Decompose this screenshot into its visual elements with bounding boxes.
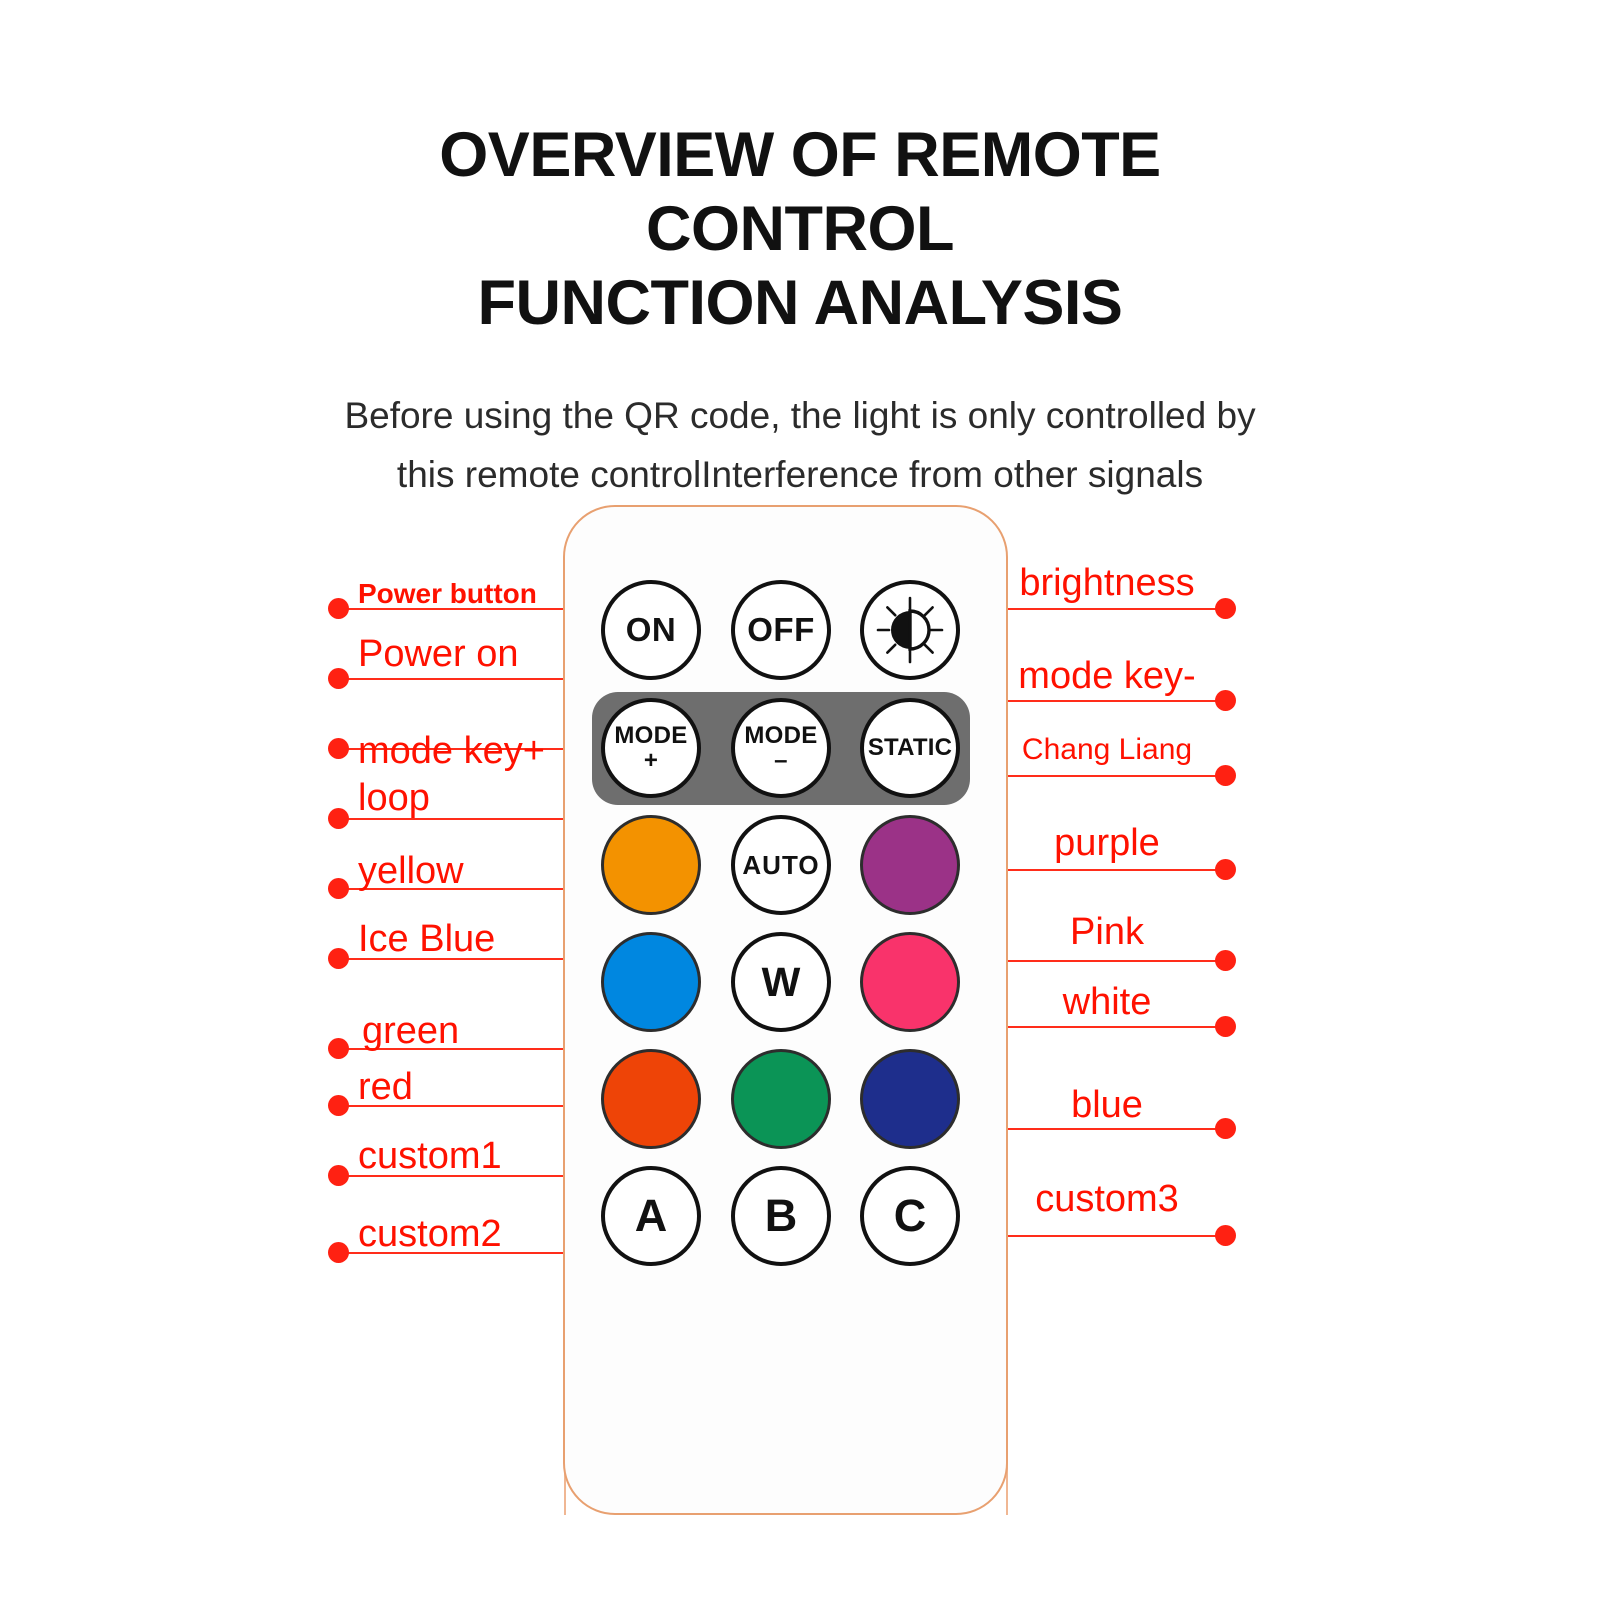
button-color-blue[interactable] [860, 1049, 960, 1149]
page-title: OVERVIEW OF REMOTE CONTROL FUNCTION ANAL… [290, 118, 1310, 340]
callout-dot-green [328, 1038, 349, 1059]
button-static[interactable]: STATIC [860, 698, 960, 798]
callout-dot-pink [1215, 950, 1236, 971]
button-color-pink[interactable] [860, 932, 960, 1032]
button-auto[interactable]: AUTO [731, 815, 831, 915]
callout-label-ice-blue: Ice Blue [358, 918, 495, 961]
button-auto-label: AUTO [742, 850, 819, 881]
button-white-label: W [762, 959, 801, 1006]
button-off-label: OFF [747, 611, 814, 649]
button-custom-a[interactable]: A [601, 1166, 701, 1266]
callout-label-power-on: Power on [358, 633, 519, 676]
page-subtitle-line-2: this remote controlInterference from oth… [320, 445, 1280, 504]
button-custom-c[interactable]: C [860, 1166, 960, 1266]
callout-label-mode-key-plus: mode key+ [358, 730, 545, 773]
button-custom-c-label: C [894, 1190, 927, 1242]
button-mode-minus-sign: – [774, 748, 788, 773]
callout-dot-power-on [328, 668, 349, 689]
callout-label-green: green [362, 1010, 459, 1053]
callout-dot-red [328, 1095, 349, 1116]
button-off[interactable]: OFF [731, 580, 831, 680]
page-title-line-2: FUNCTION ANALYSIS [290, 266, 1310, 340]
callout-label-custom2: custom2 [358, 1213, 502, 1256]
brightness-sun-icon [874, 594, 946, 666]
button-color-green[interactable] [731, 1049, 831, 1149]
button-color-purple[interactable] [860, 815, 960, 915]
button-mode-plus[interactable]: MODE + [601, 698, 701, 798]
callout-dot-custom1 [328, 1165, 349, 1186]
callout-dot-custom2 [328, 1242, 349, 1263]
callout-label-mode-key-minus: mode key- [1013, 655, 1201, 698]
callout-dot-ice-blue [328, 948, 349, 969]
callout-dot-blue [1215, 1118, 1236, 1139]
callout-dot-mode-key-minus [1215, 690, 1236, 711]
button-on-label: ON [626, 611, 677, 649]
callout-label-brightness: brightness [1013, 562, 1201, 605]
callout-label-power-button: Power button [358, 578, 537, 610]
page-subtitle: Before using the QR code, the light is o… [320, 386, 1280, 504]
callout-label-chang-liang: Chang Liang [1013, 733, 1201, 767]
callout-dot-brightness [1215, 598, 1236, 619]
button-color-ice-blue[interactable] [601, 932, 701, 1032]
callout-label-loop: loop [358, 777, 430, 820]
callout-label-yellow: yellow [358, 850, 464, 893]
callout-label-blue: blue [1013, 1084, 1201, 1127]
button-mode-plus-sign: + [644, 748, 658, 773]
button-mode-minus[interactable]: MODE – [731, 698, 831, 798]
callout-dot-white [1215, 1016, 1236, 1037]
callout-dot-purple [1215, 859, 1236, 880]
button-brightness[interactable] [860, 580, 960, 680]
callout-label-purple: purple [1013, 822, 1201, 865]
page-subtitle-line-1: Before using the QR code, the light is o… [320, 386, 1280, 445]
callout-label-custom1: custom1 [358, 1135, 502, 1178]
button-static-label: STATIC [868, 734, 952, 762]
callout-label-white: white [1013, 981, 1201, 1024]
button-custom-a-label: A [635, 1190, 668, 1242]
callout-label-red: red [358, 1066, 413, 1109]
page-title-line-1: OVERVIEW OF REMOTE CONTROL [290, 118, 1310, 266]
button-mode-plus-label: MODE [614, 723, 687, 748]
callout-label-pink: Pink [1013, 911, 1201, 954]
button-color-yellow[interactable] [601, 815, 701, 915]
callout-dot-loop [328, 808, 349, 829]
callout-dot-power-button [328, 598, 349, 619]
button-color-red[interactable] [601, 1049, 701, 1149]
button-on[interactable]: ON [601, 580, 701, 680]
callout-label-custom3: custom3 [1013, 1178, 1201, 1221]
callout-dot-mode-key-plus [328, 738, 349, 759]
button-white[interactable]: W [731, 932, 831, 1032]
button-custom-b[interactable]: B [731, 1166, 831, 1266]
callout-dot-custom3 [1215, 1225, 1236, 1246]
page-header: OVERVIEW OF REMOTE CONTROL FUNCTION ANAL… [0, 118, 1600, 504]
callout-dot-yellow [328, 878, 349, 899]
button-custom-b-label: B [765, 1190, 798, 1242]
callout-dot-chang-liang [1215, 765, 1236, 786]
button-mode-minus-label: MODE [744, 723, 817, 748]
